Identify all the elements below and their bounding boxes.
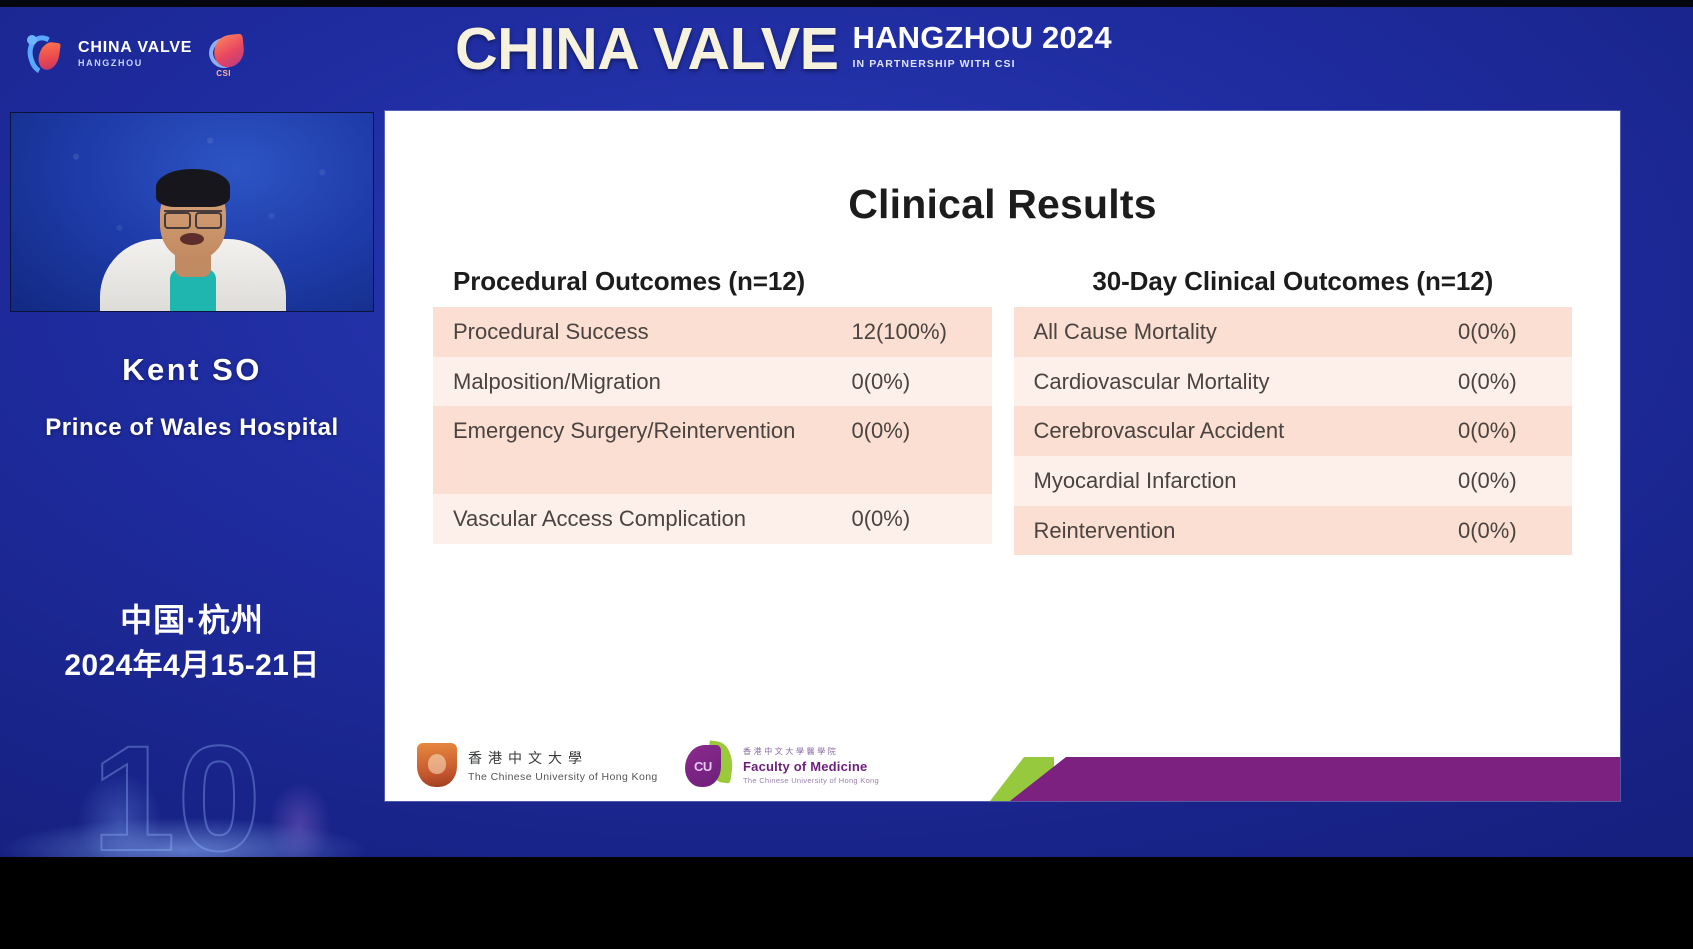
medicine-logo-text: 香港中文大學醫學院 Faculty of Medicine The Chines…: [743, 746, 879, 785]
cuhk-logo-text: 香港中文大學 The Chinese University of Hong Ko…: [468, 748, 658, 783]
cuhk-crest-icon: [417, 743, 457, 787]
medicine-monogram: CU: [694, 759, 712, 774]
speaker-name: Kent SO: [0, 352, 384, 388]
table-procedural-outcomes: Procedural Outcomes (n=12) Procedural Su…: [433, 266, 992, 555]
row-value: 12(100%): [852, 317, 970, 347]
table-row: Cerebrovascular Accident 0(0%): [1014, 406, 1573, 456]
row-label: Malposition/Migration: [453, 367, 852, 397]
event-location: 中国·杭州: [0, 595, 384, 641]
csi-badge-label: CSI: [216, 69, 231, 78]
broadcast-stage: 10 CHINA VALVE HANGZHOU CSI CHINA VALVE …: [0, 0, 1693, 949]
row-label: Procedural Success: [453, 317, 852, 347]
brandmark-name: CHINA VALVE: [78, 40, 192, 56]
medicine-leaf-icon: CU: [685, 741, 733, 789]
brandmark-city: HANGZHOU: [78, 59, 192, 68]
row-label: Myocardial Infarction: [1034, 466, 1459, 496]
brandmark-text: CHINA VALVE HANGZHOU: [78, 40, 192, 68]
masthead-secondary: HANGZHOU 2024 IN PARTNERSHIP WITH CSI: [852, 22, 1111, 77]
presentation-slide[interactable]: Clinical Results Procedural Outcomes (n=…: [385, 111, 1620, 801]
cuhk-name-cn: 香港中文大學: [468, 748, 658, 768]
row-label: Vascular Access Complication: [453, 504, 852, 534]
letterbox-top: [0, 0, 1693, 7]
medicine-parent-name: The Chinese University of Hong Kong: [743, 776, 879, 785]
row-label: Emergency Surgery/Reintervention: [453, 416, 852, 446]
row-value: 0(0%): [1458, 516, 1550, 546]
faculty-of-medicine-logo: CU 香港中文大學醫學院 Faculty of Medicine The Chi…: [685, 741, 879, 789]
table-row: Procedural Success 12(100%): [433, 307, 992, 357]
event-brandmark: CHINA VALVE HANGZHOU CSI: [26, 30, 252, 78]
row-label: Cerebrovascular Accident: [1034, 416, 1459, 446]
masthead-city-year: HANGZHOU 2024: [852, 22, 1111, 53]
masthead-title: CHINA VALVE: [455, 22, 838, 77]
table-row: Cardiovascular Mortality 0(0%): [1014, 357, 1573, 407]
cuhk-logo: 香港中文大學 The Chinese University of Hong Ko…: [417, 743, 658, 787]
masthead-partnership: IN PARTNERSHIP WITH CSI: [852, 58, 1111, 70]
outcomes-tables: Procedural Outcomes (n=12) Procedural Su…: [385, 266, 1620, 555]
table-row: Reintervention 0(0%): [1014, 506, 1573, 556]
row-label: Cardiovascular Mortality: [1034, 367, 1459, 397]
row-value: 0(0%): [1458, 317, 1550, 347]
medicine-name-en: Faculty of Medicine: [743, 759, 879, 774]
cuhk-name-en: The Chinese University of Hong Kong: [468, 771, 658, 783]
china-valve-logo-icon: [26, 33, 66, 75]
slide-title: Clinical Results: [385, 181, 1620, 228]
row-value: 0(0%): [852, 367, 970, 397]
footer-purple-banner: [1010, 757, 1620, 801]
medicine-name-cn: 香港中文大學醫學院: [743, 746, 879, 757]
table-row: Myocardial Infarction 0(0%): [1014, 456, 1573, 506]
edition-watermark: 10: [92, 735, 263, 861]
row-value: 0(0%): [852, 504, 970, 534]
table-30-day-clinical-outcomes: 30-Day Clinical Outcomes (n=12) All Caus…: [1014, 266, 1573, 555]
table-row: All Cause Mortality 0(0%): [1014, 307, 1573, 357]
row-value: 0(0%): [1458, 416, 1550, 446]
letterbox-bottom: [0, 857, 1693, 949]
row-value: 0(0%): [1458, 367, 1550, 397]
table-row: Emergency Surgery/Reintervention 0(0%): [433, 406, 992, 494]
speaker-affiliation: Prince of Wales Hospital: [0, 414, 384, 442]
cityscape-glow-decoration: [0, 677, 400, 857]
row-label: All Cause Mortality: [1034, 317, 1459, 347]
csi-logo-icon: CSI: [208, 32, 252, 76]
masthead: CHINA VALVE HANGZHOU 2024 IN PARTNERSHIP…: [455, 22, 1112, 77]
row-value: 0(0%): [1458, 466, 1550, 496]
table-header-30-day: 30-Day Clinical Outcomes (n=12): [1014, 266, 1573, 307]
event-dates: 2024年4月15-21日: [0, 640, 384, 684]
table-header-procedural: Procedural Outcomes (n=12): [433, 266, 992, 307]
slide-footer: 香港中文大學 The Chinese University of Hong Ko…: [385, 711, 1620, 801]
speaker-video-tile[interactable]: [10, 112, 374, 312]
table-row: Malposition/Migration 0(0%): [433, 357, 992, 407]
row-value: 0(0%): [852, 416, 970, 446]
table-row: Vascular Access Complication 0(0%): [433, 494, 992, 544]
row-label: Reintervention: [1034, 516, 1459, 546]
